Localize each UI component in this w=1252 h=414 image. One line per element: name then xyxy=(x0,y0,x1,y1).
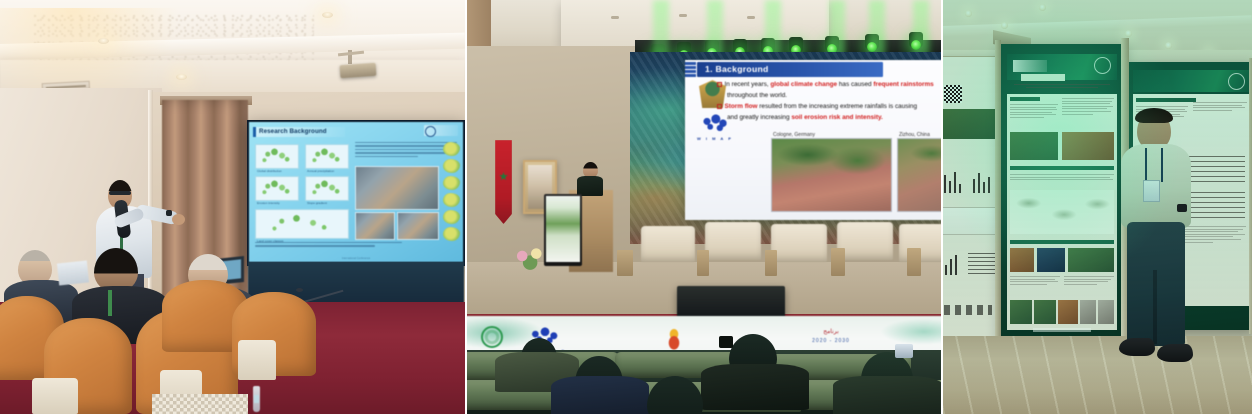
downlight-icon xyxy=(176,74,187,80)
photo-caption: Zizhou, China xyxy=(899,132,930,138)
olive-branch-logo-icon xyxy=(661,326,687,350)
foreground-fabric xyxy=(152,394,248,414)
led-video-wall: 1. Background W I M A P In recent years,… xyxy=(630,52,943,244)
panel-oral-presentation: Research Background Global distribution … xyxy=(0,0,465,414)
panel-divider xyxy=(465,0,467,414)
handheld-device xyxy=(895,344,913,358)
water-bottle xyxy=(253,386,260,412)
figure-caption: Global distribution xyxy=(257,169,282,173)
kiosk-screen xyxy=(546,196,580,262)
title-accent-mark xyxy=(253,127,256,137)
side-table xyxy=(831,248,845,276)
lanyard xyxy=(108,290,112,316)
figure-caption: Slope gradient xyxy=(307,201,327,205)
figure-caption: Erosion intensity xyxy=(257,201,280,205)
stage-sofa xyxy=(837,222,893,260)
panel-poster-session xyxy=(943,0,1252,414)
photo-collage: Research Background Global distribution … xyxy=(0,0,1252,414)
slide-bullet-2-continued: and greatly increasing soil erosion risk… xyxy=(727,113,883,123)
projection-screen: Research Background Global distribution … xyxy=(249,122,463,262)
green-light-highlight xyxy=(943,0,1252,414)
presenter-hand xyxy=(172,214,185,225)
world-map-figure: Global distribution xyxy=(255,144,299,169)
slide-title: Research Background xyxy=(259,127,327,137)
panel-keynote-auditorium: 1. Background W I M A P In recent years,… xyxy=(465,0,943,414)
eyeglasses-icon xyxy=(109,191,131,195)
photo-caption: Cologne, Germany xyxy=(773,132,815,138)
downlight-icon xyxy=(98,38,109,44)
university-logo-icon xyxy=(424,125,458,136)
arabic-program-title: برنامج xyxy=(803,328,859,335)
chair-armrest xyxy=(32,378,78,414)
side-table xyxy=(765,250,777,276)
audience-body xyxy=(701,364,809,410)
chip-figure-column xyxy=(443,142,461,242)
downlight-icon xyxy=(322,12,333,18)
audience-body xyxy=(551,376,649,414)
world-map-figure: Annual precipitation xyxy=(305,144,349,169)
erosion-photo-zizhou: Zizhou, China xyxy=(897,138,943,212)
figure-caption: Annual precipitation xyxy=(307,169,334,173)
slide-bullet-1: In recent years, global climate change h… xyxy=(717,80,934,90)
tablet-device xyxy=(57,260,89,285)
checkbox-icon xyxy=(717,82,722,87)
stage-sofa xyxy=(641,226,695,262)
slide-title: 1. Background xyxy=(705,62,769,77)
slide-closing-text xyxy=(255,242,405,249)
arabic-program-logo: برنامج 2020 - 2030 xyxy=(803,328,859,352)
ceiling-projector xyxy=(340,63,377,78)
av-control-console xyxy=(677,286,785,318)
slide-bullet-1-continued: throughout the world. xyxy=(727,91,787,101)
checkbox-icon xyxy=(717,104,722,109)
slide-footer: International Conference xyxy=(249,257,463,260)
flood-photo-cologne: Cologne, Germany xyxy=(771,138,892,212)
side-table xyxy=(697,250,709,276)
presentation-slide: 1. Background W I M A P In recent years,… xyxy=(685,60,943,220)
slide-side-tabs xyxy=(685,62,696,77)
gear-leaf-logo-icon xyxy=(481,326,503,348)
side-table xyxy=(617,250,633,276)
side-table xyxy=(907,248,921,276)
slide-bullet-2: Storm flow resulted from the increasing … xyxy=(717,102,917,112)
smartphone-raised xyxy=(719,336,733,348)
aerial-photo xyxy=(355,166,439,210)
program-years: 2020 - 2030 xyxy=(803,338,859,344)
world-map-logo-text: W I M A P xyxy=(697,136,733,141)
audience-body xyxy=(833,376,943,414)
microphone-head-icon xyxy=(296,288,303,292)
aerial-photo xyxy=(355,212,395,240)
slide-title-bar: 1. Background xyxy=(697,62,883,77)
wristwatch-icon xyxy=(166,210,172,216)
world-map-figure: Erosion intensity xyxy=(255,176,299,201)
world-map-figure-large: Land cover classes xyxy=(255,209,349,239)
keynote-speaker xyxy=(577,162,603,194)
chair-armrest xyxy=(238,340,276,380)
panel-divider xyxy=(941,0,943,414)
stage-sofa xyxy=(705,222,761,260)
slide-body-text xyxy=(355,142,457,159)
slide-title-bar: Research Background xyxy=(253,127,345,137)
stage-sofa xyxy=(899,224,943,262)
aerial-photo xyxy=(397,212,439,240)
stage-sofa xyxy=(771,224,827,262)
digital-signage-kiosk xyxy=(544,194,582,266)
morocco-flag xyxy=(495,140,512,224)
world-map-figure: Slope gradient xyxy=(305,176,349,201)
